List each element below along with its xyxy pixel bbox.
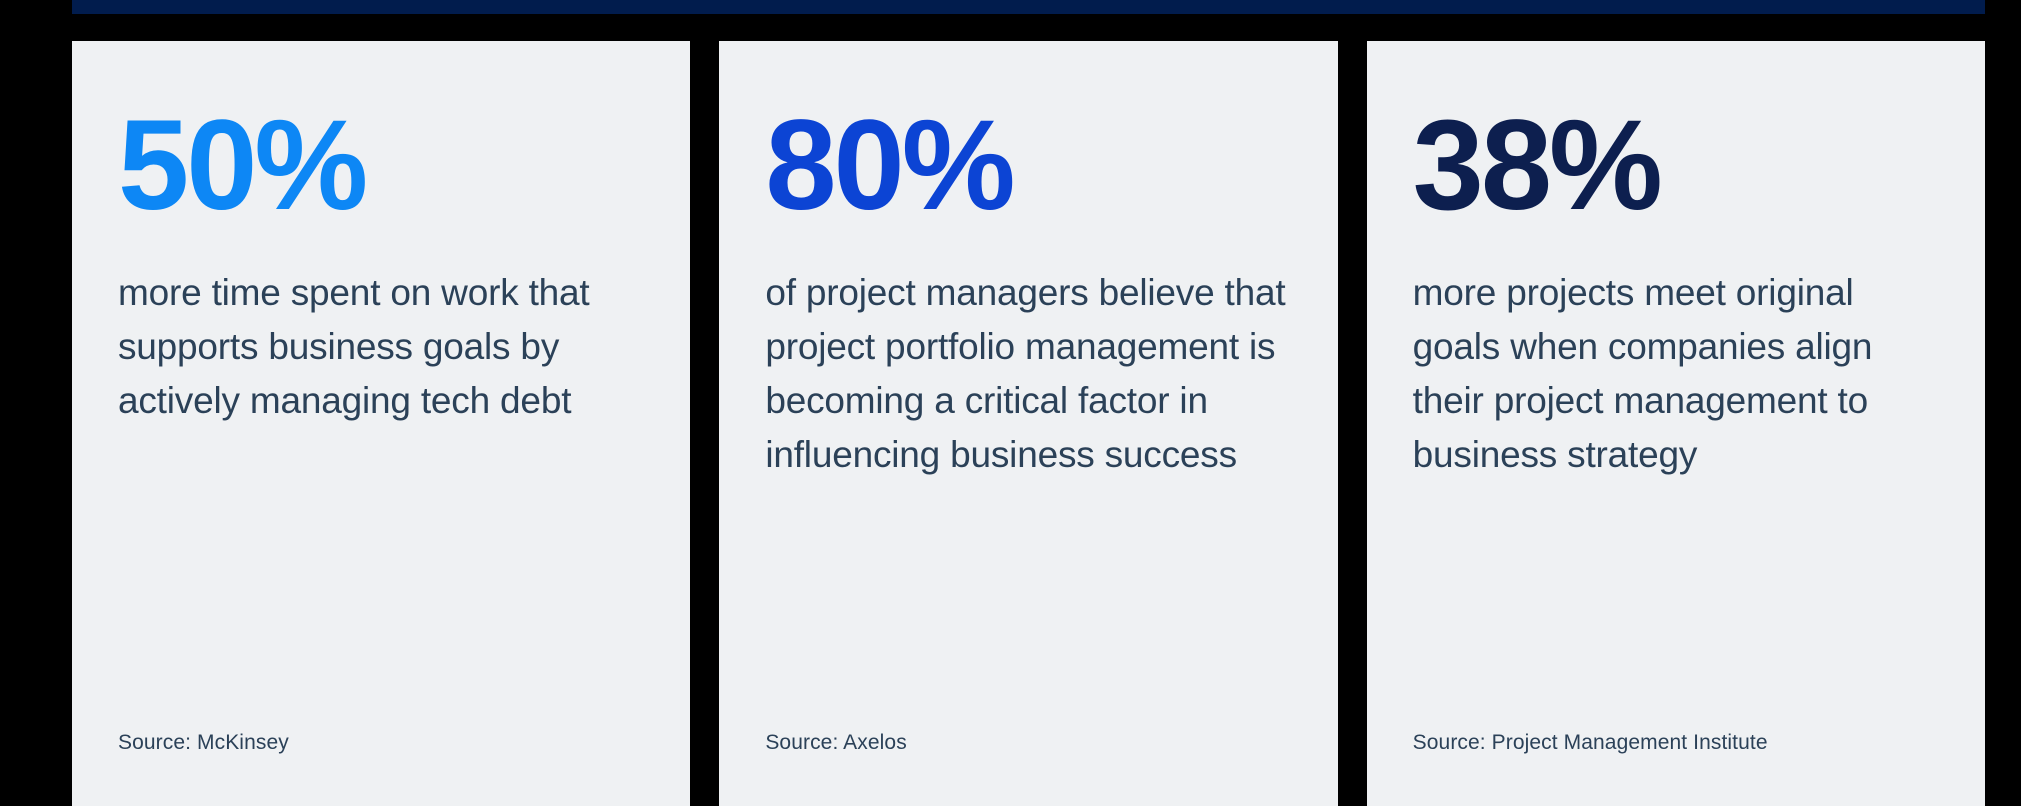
stat-source: Source: McKinsey	[118, 729, 644, 756]
stat-description: more time spent on work that supports bu…	[118, 266, 638, 428]
stat-source: Source: Axelos	[765, 729, 1291, 756]
stat-description: of project managers believe that project…	[765, 266, 1291, 482]
stat-description: more projects meet original goals when c…	[1413, 266, 1913, 482]
card-spacer	[118, 428, 644, 729]
stat-percentage: 38%	[1413, 99, 1939, 232]
stat-source: Source: Project Management Institute	[1413, 729, 1939, 756]
stat-percentage: 50%	[118, 99, 644, 232]
stat-card: 80% of project managers believe that pro…	[719, 41, 1337, 806]
top-accent-bar	[72, 0, 1985, 14]
stat-card: 38% more projects meet original goals wh…	[1367, 41, 1985, 806]
card-spacer	[765, 482, 1291, 729]
card-spacer	[1413, 482, 1939, 729]
stat-card: 50% more time spent on work that support…	[72, 41, 690, 806]
stat-card-list: 50% more time spent on work that support…	[72, 41, 1985, 806]
stat-percentage: 80%	[765, 99, 1291, 232]
statistics-infographic: 50% more time spent on work that support…	[0, 0, 2021, 806]
